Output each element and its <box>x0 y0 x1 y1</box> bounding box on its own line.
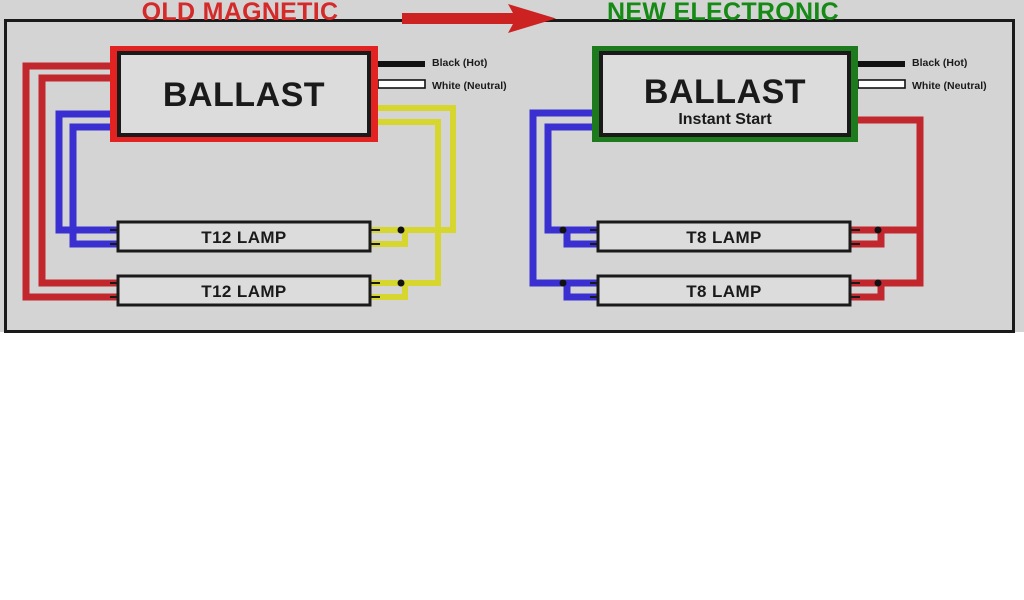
left-lamp-1: T12 LAMP <box>118 222 370 251</box>
right-lamp-2-label: T8 LAMP <box>686 282 762 301</box>
right-ballast-subtitle: Instant Start <box>678 111 772 128</box>
left-ballast-box: BALLAST <box>110 46 378 142</box>
left-ballast-title: BALLAST <box>163 76 325 114</box>
title-new-electronic: NEW ELECTRONIC <box>607 0 839 26</box>
left-lamp-2-label: T12 LAMP <box>201 282 286 301</box>
right-supply-white-lead <box>858 80 905 88</box>
wiring-diagram-root: OLD MAGNETIC NEW ELECTRONIC Blac <box>0 0 1024 600</box>
right-lamp-1-label: T8 LAMP <box>686 228 762 247</box>
right-lamp-2: T8 LAMP <box>598 276 850 305</box>
junction-dot <box>560 227 567 234</box>
right-ballast-box: BALLAST Instant Start <box>592 46 858 142</box>
junction-dot <box>398 280 405 287</box>
left-lamp-1-label: T12 LAMP <box>201 228 286 247</box>
right-lamp-1: T8 LAMP <box>598 222 850 251</box>
left-lamp-2: T12 LAMP <box>118 276 370 305</box>
right-white-neutral-label: White (Neutral) <box>912 80 987 92</box>
left-white-neutral-label: White (Neutral) <box>432 80 507 92</box>
left-black-hot-label: Black (Hot) <box>432 57 487 69</box>
junction-dot <box>398 227 405 234</box>
right-black-hot-label: Black (Hot) <box>912 57 967 69</box>
title-old-magnetic: OLD MAGNETIC <box>142 0 339 26</box>
junction-dot <box>560 280 567 287</box>
ballast-wiring-diagram: OLD MAGNETIC NEW ELECTRONIC Blac <box>0 0 1024 600</box>
right-ballast-title: BALLAST <box>644 73 806 111</box>
left-supply-white-lead <box>378 80 425 88</box>
junction-dot <box>875 280 882 287</box>
junction-dot <box>875 227 882 234</box>
